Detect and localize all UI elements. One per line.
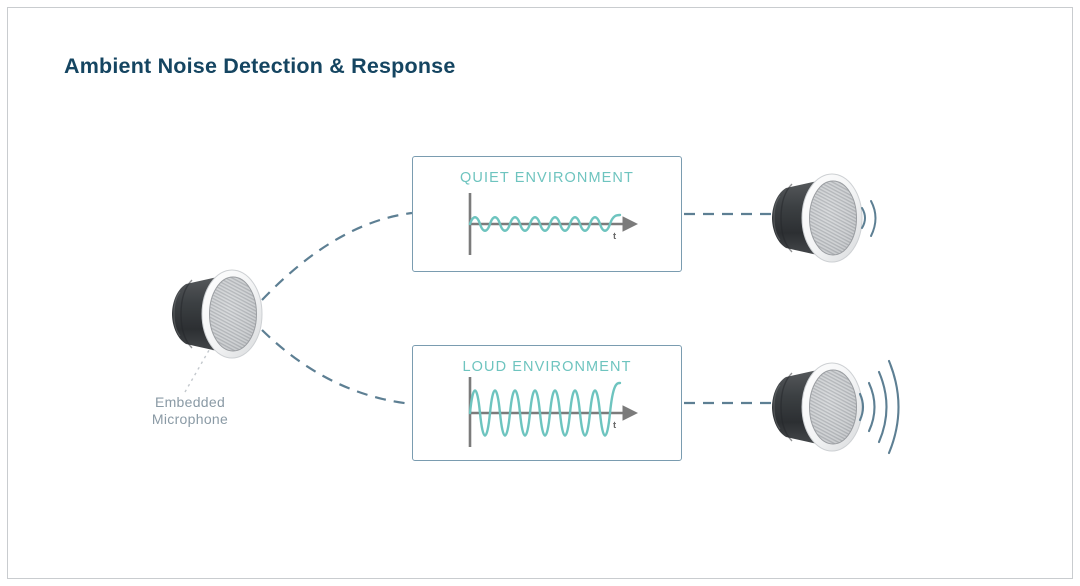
- panel-quiet-environment: QUIET ENVIRONMENT t: [412, 156, 682, 272]
- caption-line-1: Embedded: [120, 394, 260, 411]
- waveform-quiet: t: [413, 157, 683, 273]
- axis-label-t: t: [613, 231, 617, 242]
- embedded-microphone-caption: Embedded Microphone: [120, 394, 260, 428]
- caption-line-2: Microphone: [120, 411, 260, 428]
- output-speaker-quiet: [772, 174, 862, 262]
- panel-loud-environment: LOUD ENVIRONMENT t: [412, 345, 682, 461]
- sound-arcs-loud: [860, 361, 899, 453]
- wave-path: [470, 383, 620, 436]
- connector-mic-to-quiet: [262, 213, 412, 300]
- axis-label-t: t: [613, 420, 617, 431]
- sound-arcs-quiet: [862, 201, 876, 236]
- waveform-loud: t: [413, 346, 683, 462]
- mic-leader-line: [185, 345, 212, 392]
- diagram-canvas: Ambient Noise Detection & Response: [0, 0, 1080, 586]
- source-ceiling-speaker: [172, 270, 262, 358]
- output-speaker-loud: [772, 363, 862, 451]
- connector-mic-to-loud: [262, 330, 412, 404]
- connector-layer: [0, 0, 1080, 586]
